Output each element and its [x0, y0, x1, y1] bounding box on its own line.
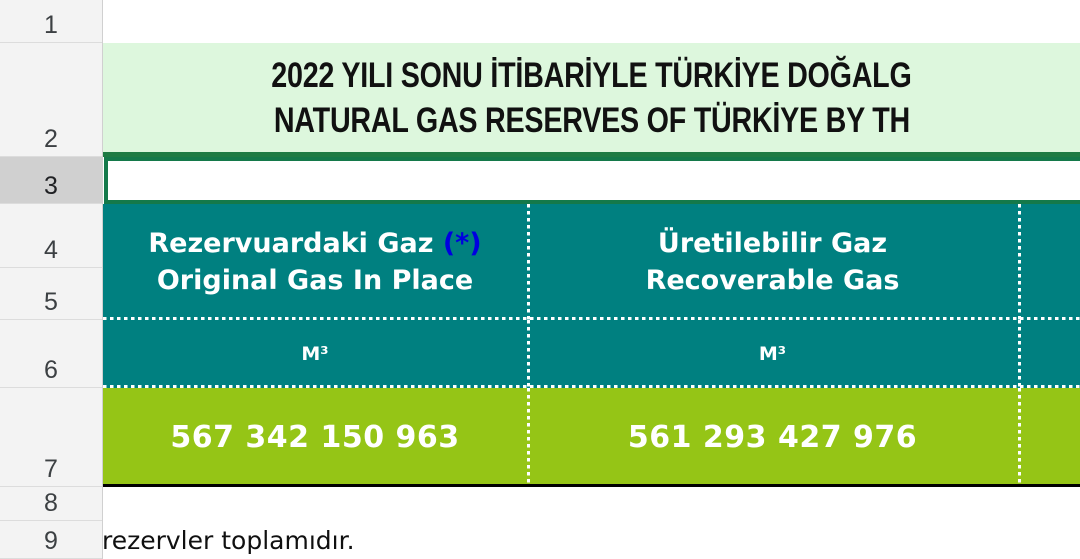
unit-cell-third-column[interactable] — [1018, 320, 1080, 388]
column-divider-1 — [527, 204, 530, 320]
row-header-label: 1 — [44, 11, 58, 40]
empty-row-1[interactable] — [103, 0, 1080, 43]
spreadsheet-canvas: 1 2 3 4 5 6 7 8 9 2022 YILI SONU İTİBARİ… — [0, 0, 1080, 559]
row-header-3[interactable]: 3 — [0, 157, 102, 204]
row-header-4[interactable]: 4 — [0, 204, 102, 268]
row-header-label: 7 — [44, 455, 58, 484]
row-header-label: 2 — [44, 125, 58, 154]
row-header-7[interactable]: 7 — [0, 388, 102, 487]
active-cell-selection-border[interactable] — [104, 157, 1080, 204]
value-cell-original-gas-in-place[interactable]: 567 342 150 963 — [103, 388, 527, 487]
row-header-gutter: 1 2 3 4 5 6 7 8 9 — [0, 0, 103, 559]
header-cell-third-column[interactable] — [1018, 204, 1080, 320]
row-header-1[interactable]: 1 — [0, 0, 102, 43]
row-header-label: 9 — [44, 527, 58, 556]
row-header-9[interactable]: 9 — [0, 521, 102, 559]
footnote-text: rezervler toplamıdır. — [103, 526, 355, 555]
column-divider-2 — [1018, 204, 1021, 320]
header-line-turkish-2: Üretilebilir Gaz — [658, 225, 887, 262]
selected-blank-row[interactable] — [103, 157, 1080, 204]
header-text-tr: Rezervuardaki Gaz — [148, 228, 442, 259]
title-line-english: NATURAL GAS RESERVES OF TÜRKİYE BY TH — [273, 98, 909, 143]
unit-label-1: M³ — [301, 343, 328, 365]
row-header-5[interactable]: 5 — [0, 268, 102, 320]
column-divider-4 — [1018, 320, 1021, 388]
row-header-label: 6 — [44, 356, 58, 385]
report-title-cell[interactable]: 2022 YILI SONU İTİBARİYLE TÜRKİYE DOĞALG… — [103, 43, 1080, 157]
row-header-2[interactable]: 2 — [0, 43, 102, 157]
header-line-english-2: Recoverable Gas — [646, 262, 900, 299]
column-divider-3 — [527, 320, 530, 388]
row-header-label: 3 — [44, 172, 58, 201]
unit-label-2: M³ — [759, 343, 786, 365]
footnote-row[interactable]: rezervler toplamıdır. — [103, 521, 1080, 559]
header-unit-separator — [103, 317, 1080, 320]
table-bottom-rule — [103, 484, 1080, 487]
sheet-cells: 2022 YILI SONU İTİBARİYLE TÜRKİYE DOĞALG… — [103, 0, 1080, 559]
row-header-6[interactable]: 6 — [0, 320, 102, 388]
value-cell-recoverable-gas[interactable]: 561 293 427 976 — [527, 388, 1018, 487]
column-divider-5 — [527, 388, 530, 487]
header-line-turkish-1: Rezervuardaki Gaz (*) — [148, 225, 481, 262]
row-header-label: 5 — [44, 288, 58, 317]
footnote-marker: (*) — [443, 228, 482, 259]
column-divider-6 — [1018, 388, 1021, 487]
header-cell-recoverable-gas[interactable]: Üretilebilir Gaz Recoverable Gas — [527, 204, 1018, 320]
table-header-row: Rezervuardaki Gaz (*) Original Gas In Pl… — [103, 204, 1080, 320]
value-cell-third-column[interactable] — [1018, 388, 1080, 487]
row-header-8[interactable]: 8 — [0, 487, 102, 521]
table-value-row: 567 342 150 963 561 293 427 976 — [103, 388, 1080, 487]
unit-cell-recoverable-gas[interactable]: M³ — [527, 320, 1018, 388]
title-line-turkish: 2022 YILI SONU İTİBARİYLE TÜRKİYE DOĞALG — [271, 53, 911, 98]
header-cell-original-gas-in-place[interactable]: Rezervuardaki Gaz (*) Original Gas In Pl… — [103, 204, 527, 320]
unit-value-separator — [103, 385, 1080, 388]
table-unit-row: M³ M³ — [103, 320, 1080, 388]
unit-cell-original-gas-in-place[interactable]: M³ — [103, 320, 527, 388]
row-header-label: 4 — [44, 236, 58, 265]
header-line-english-1: Original Gas In Place — [157, 262, 473, 299]
empty-row-8[interactable] — [103, 487, 1080, 521]
value-original-gas-in-place: 567 342 150 963 — [170, 420, 459, 455]
value-recoverable-gas: 561 293 427 976 — [628, 420, 917, 455]
row-header-label: 8 — [44, 489, 58, 518]
